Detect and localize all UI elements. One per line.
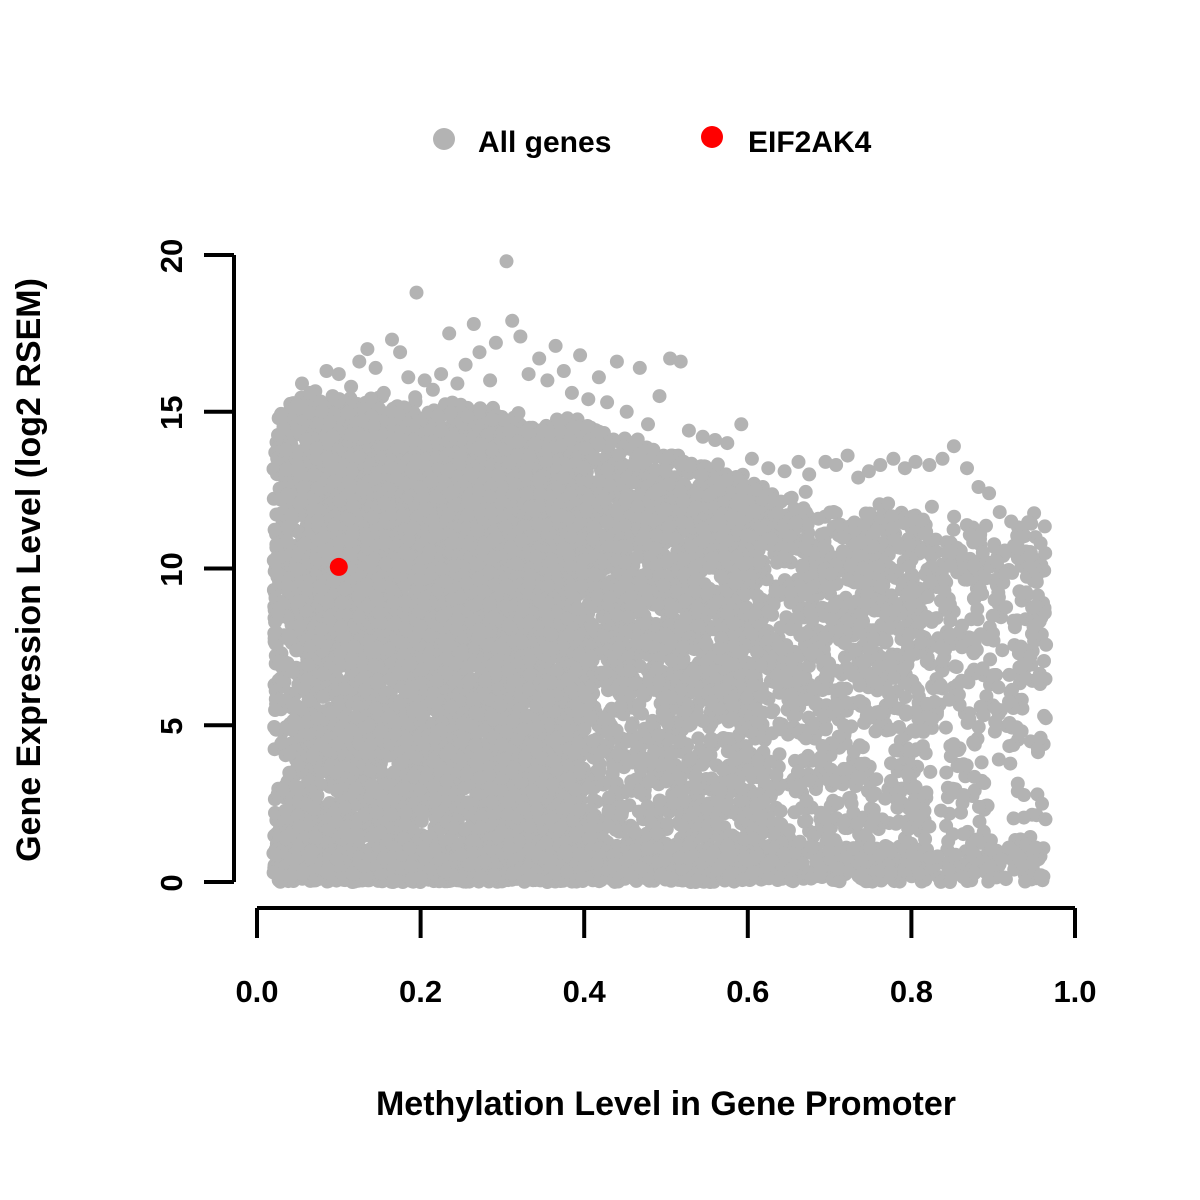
data-point [947,523,961,537]
data-point [947,510,961,524]
legend-marker-all-genes [433,128,455,150]
data-point [774,804,788,818]
scatter-plot-figure: All genes EIF2AK4 05101520 Gene Expressi… [0,0,1200,1200]
data-point [925,500,939,514]
legend-marker-eif2ak4 [701,126,723,148]
data-point [950,660,964,674]
legend-label-eif2ak4: EIF2AK4 [748,126,872,159]
data-point [975,755,989,769]
data-point [1038,519,1052,533]
legend-label-all-genes: All genes [478,126,611,159]
data-point [966,735,980,749]
